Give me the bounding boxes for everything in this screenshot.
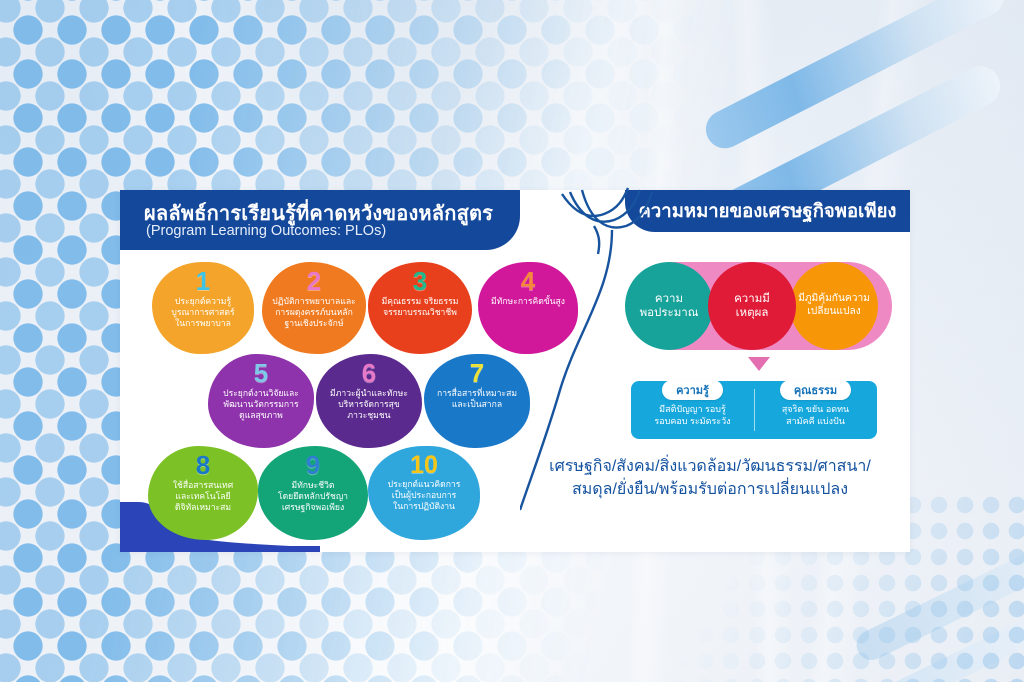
outcome-bubble-3[interactable]: 3มีคุณธรรม จริยธรรมจรรยาบรรณวิชาชีพ [368, 262, 472, 354]
outcome-text-1: ประยุกต์ความรู้บูรณาการศาสตร์ในการพยาบาล [164, 296, 241, 329]
knowledge-virtue-box: ความรู้ มีสติปัญญา รอบรู้รอบคอบ ระมัดระว… [631, 381, 877, 439]
slide-canvas: ผลลัพธ์การเรียนรู้ที่คาดหวังของหลักสูตร … [0, 0, 1024, 682]
outcome-text-5: ประยุกต์งานวิจัยและพัฒนานวัตกรรมการดูแลส… [216, 388, 306, 421]
outcome-number-3: 3 [413, 268, 427, 295]
venn-circle-2: ความมีเหตุผล [708, 262, 796, 350]
outcome-text-8: ใช้สื่อสารสนเทศและเทคโนโลยีดิจิทัลเหมาะส… [166, 480, 240, 513]
outcome-text-9: มีทักษะชีวิตโดยยึดหลักปรัชญาเศรษฐกิจพอเพ… [271, 480, 355, 513]
outcome-number-1: 1 [196, 268, 210, 295]
outcome-number-7: 7 [470, 360, 484, 387]
panel-divider-curve [520, 230, 640, 530]
outcome-bubble-1[interactable]: 1ประยุกต์ความรู้บูรณาการศาสตร์ในการพยาบา… [152, 262, 254, 354]
kbox-lines-knowledge: มีสติปัญญา รอบรู้รอบคอบ ระมัดระวัง [654, 403, 730, 427]
kbox-column-knowledge: ความรู้ มีสติปัญญา รอบรู้รอบคอบ ระมัดระว… [631, 381, 754, 439]
kbox-pill-virtue: คุณธรรม [780, 380, 851, 400]
outcome-bubble-7[interactable]: 7การสื่อสารที่เหมาะสมและเป็นสากล [424, 354, 530, 448]
kbox-pill-knowledge: ความรู้ [662, 380, 723, 400]
right-panel-header: ความหมายของเศรษฐกิจพอเพียง [625, 190, 910, 232]
kbox-column-virtue: คุณธรรม สุจริต ขยัน อดทนสามัคคี แบ่งปัน [754, 381, 877, 439]
outcome-number-6: 6 [362, 360, 376, 387]
outcome-text-6: มีภาวะผู้นำและทักษะบริหารจัดการสุขภาวะชุ… [323, 388, 415, 421]
outcome-number-2: 2 [307, 268, 321, 295]
outcome-number-8: 8 [196, 452, 210, 479]
down-arrow-icon [748, 357, 770, 371]
outcome-bubble-10[interactable]: 10ประยุกต์แนวคิดการเป็นผู้ประกอบการในการ… [368, 446, 480, 540]
outcome-text-10: ประยุกต์แนวคิดการเป็นผู้ประกอบการในการปฏ… [381, 479, 468, 512]
outcome-bubble-9[interactable]: 9มีทักษะชีวิตโดยยึดหลักปรัชญาเศรษฐกิจพอเ… [258, 446, 368, 540]
outcome-text-7: การสื่อสารที่เหมาะสมและเป็นสากล [430, 388, 524, 410]
venn-circle-3-label: มีภูมิคุ้มกันความเปลี่ยนแปลง [798, 293, 870, 319]
left-header-subtitle: (Program Learning Outcomes: PLOs) [146, 223, 386, 239]
venn-circle-3: มีภูมิคุ้มกันความเปลี่ยนแปลง [790, 262, 878, 350]
outcome-number-9: 9 [306, 452, 320, 479]
venn-circle-2-label: ความมีเหตุผล [734, 292, 770, 321]
outcome-text-2: ปฏิบัติการพยาบาลและการผดุงครรภ์บนหลักฐาน… [265, 296, 362, 329]
venn-circle-1-label: ความพอประมาณ [640, 292, 699, 321]
outcome-text-3: มีคุณธรรม จริยธรรมจรรยาบรรณวิชาชีพ [375, 296, 466, 318]
right-header-title: ความหมายของเศรษฐกิจพอเพียง [639, 197, 897, 226]
outcome-bubble-8[interactable]: 8ใช้สื่อสารสนเทศและเทคโนโลยีดิจิทัลเหมาะ… [148, 446, 258, 540]
outcome-number-5: 5 [254, 360, 268, 387]
left-panel-header: ผลลัพธ์การเรียนรู้ที่คาดหวังของหลักสูตร … [120, 190, 520, 250]
outcome-bubble-2[interactable]: 2ปฏิบัติการพยาบาลและการผดุงครรภ์บนหลักฐา… [262, 262, 366, 354]
outcome-number-10: 10 [410, 452, 438, 478]
outcome-bubble-5[interactable]: 5ประยุกต์งานวิจัยและพัฒนานวัตกรรมการดูแล… [208, 354, 314, 448]
decor-swirl-icon [548, 186, 658, 258]
outcome-bubble-6[interactable]: 6มีภาวะผู้นำและทักษะบริหารจัดการสุขภาวะช… [316, 354, 422, 448]
kbox-lines-virtue: สุจริต ขยัน อดทนสามัคคี แบ่งปัน [782, 403, 849, 427]
